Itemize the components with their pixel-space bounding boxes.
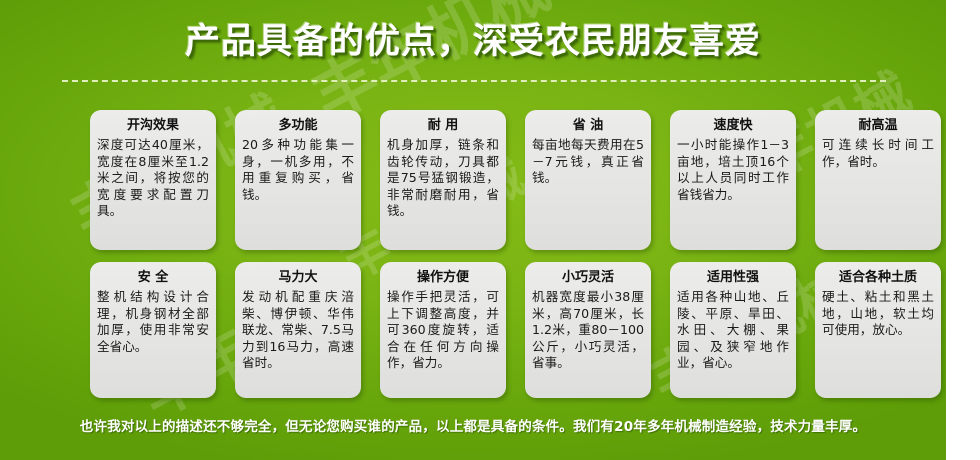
feature-card: 安 全 整机结构设计合理，机身钢材全部加厚，使用非常安全省心。 (90, 262, 216, 398)
feature-card-title: 小巧灵活 (532, 269, 644, 286)
feature-card-body: 深度可达40厘米，宽度在8厘米至1.2米之间，将按您的宽度要求配置刀具。 (97, 137, 209, 220)
footer-note: 也许我对以上的描述还不够完全，但无论您购买谁的产品，以上都是具备的条件。我们有2… (0, 415, 946, 435)
dashed-divider (62, 80, 886, 82)
feature-card-body: 可连续长时间工作，省时。 (822, 137, 934, 170)
feature-card-title: 适合各种土质 (822, 269, 934, 286)
feature-card-title: 速度快 (677, 117, 789, 134)
page-title: 产品具备的优点，深受农民朋友喜爱 (0, 20, 946, 64)
feature-card-title: 开沟效果 (97, 117, 209, 134)
feature-card-title: 操作方便 (387, 269, 499, 286)
feature-card: 多功能 20多种功能集一身，一机多用，不用重复购买，省钱。 (235, 110, 361, 250)
feature-card-body: 每亩地每天费用在5－7元钱，真正省钱。 (532, 137, 644, 187)
feature-card-body: 机身加厚，链条和齿轮传动，刀具都是75号猛钢锻造，非常耐磨耐用，省钱。 (387, 137, 499, 220)
feature-card-body: 20多种功能集一身，一机多用，不用重复购买，省钱。 (242, 137, 354, 203)
feature-card: 速度快 一小时能操作1－3亩地，培土顶16个以上人员同时工作省钱省力。 (670, 110, 796, 250)
feature-card-body: 整机结构设计合理，机身钢材全部加厚，使用非常安全省心。 (97, 289, 209, 355)
feature-card-body: 操作手把灵活，可上下调整高度，并可360度旋转，适合在任何方向操作，省力。 (387, 289, 499, 372)
feature-card-title: 耐 用 (387, 117, 499, 134)
feature-card-body: 一小时能操作1－3亩地，培土顶16个以上人员同时工作省钱省力。 (677, 137, 789, 203)
feature-card-title: 耐高温 (822, 117, 934, 134)
feature-card: 适合各种土质 硬土、粘土和黑土地，山地，软土均可使用，放心。 (815, 262, 941, 398)
feature-card-title: 安 全 (97, 269, 209, 286)
feature-card: 操作方便 操作手把灵活，可上下调整高度，并可360度旋转，适合在任何方向操作，省… (380, 262, 506, 398)
promo-poster: 丰年机械 丰年机械 丰年机械 丰年机械 丰年机械 丰年机械 产品具备的优点，深受… (0, 0, 946, 460)
feature-card: 开沟效果 深度可达40厘米，宽度在8厘米至1.2米之间，将按您的宽度要求配置刀具… (90, 110, 216, 250)
feature-card: 马力大 发动机配重庆涪柴、博伊顿、华伟联龙、常柴、7.5马力到16马力，高速省时… (235, 262, 361, 398)
feature-card-title: 省 油 (532, 117, 644, 134)
feature-card-title: 多功能 (242, 117, 354, 134)
feature-card-body: 硬土、粘土和黑土地，山地，软土均可使用，放心。 (822, 289, 934, 339)
feature-card: 适用性强 适用各种山地、丘陵、平原、旱田、水田、大棚、果园、及狭窄地作业，省心。 (670, 262, 796, 398)
feature-card: 小巧灵活 机器宽度最小38厘米，高70厘米，长1.2米，重80－100公斤，小巧… (525, 262, 651, 398)
feature-card-body: 适用各种山地、丘陵、平原、旱田、水田、大棚、果园、及狭窄地作业，省心。 (677, 289, 789, 372)
feature-card: 省 油 每亩地每天费用在5－7元钱，真正省钱。 (525, 110, 651, 250)
feature-card-body: 机器宽度最小38厘米，高70厘米，长1.2米，重80－100公斤，小巧灵活，省事… (532, 289, 644, 372)
feature-card-title: 适用性强 (677, 269, 789, 286)
feature-card-title: 马力大 (242, 269, 354, 286)
feature-card: 耐高温 可连续长时间工作，省时。 (815, 110, 941, 250)
feature-card-body: 发动机配重庆涪柴、博伊顿、华伟联龙、常柴、7.5马力到16马力，高速省时。 (242, 289, 354, 372)
feature-card: 耐 用 机身加厚，链条和齿轮传动，刀具都是75号猛钢锻造，非常耐磨耐用，省钱。 (380, 110, 506, 250)
poster-header: 产品具备的优点，深受农民朋友喜爱 (0, 0, 946, 92)
